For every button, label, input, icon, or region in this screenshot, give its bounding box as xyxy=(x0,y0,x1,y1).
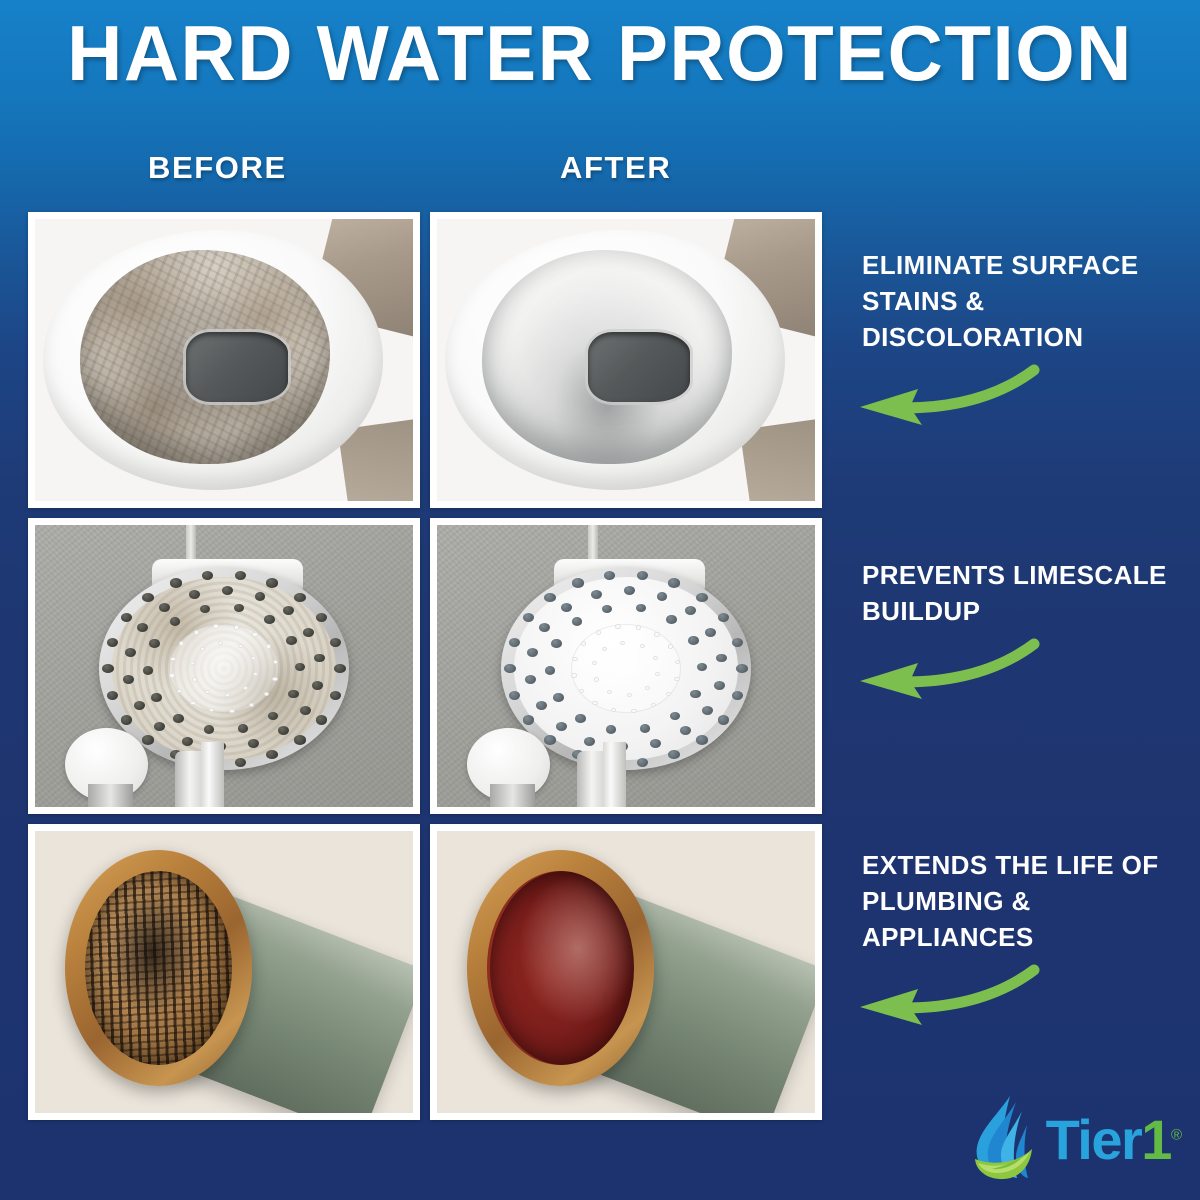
shower-hose xyxy=(603,742,626,807)
pipe-interior-clean xyxy=(487,871,633,1064)
shower-knob-stem xyxy=(88,784,133,807)
toilet-bowl-clean-image xyxy=(437,219,815,501)
shower-nozzle xyxy=(536,701,547,710)
toilet-drain-opening xyxy=(186,332,288,403)
toilet-drain-opening xyxy=(588,332,690,403)
curved-arrow-left-icon xyxy=(852,364,1182,431)
shower-nozzle xyxy=(636,625,641,629)
shower-nozzle xyxy=(572,578,583,587)
shower-nozzle xyxy=(159,603,170,612)
benefit-text-limescale: PREVENTS LIMESCALE BUILDUP xyxy=(862,558,1182,630)
shower-hose xyxy=(201,742,224,807)
shower-nozzle xyxy=(690,690,700,699)
shower-nozzle xyxy=(235,758,246,767)
column-label-after: AFTER xyxy=(560,150,671,186)
shower-nozzle xyxy=(572,657,577,661)
water-drop-leaf-icon xyxy=(964,1093,1040,1186)
shower-nozzle xyxy=(544,593,555,602)
shower-nozzle xyxy=(173,714,183,723)
shower-nozzle xyxy=(137,623,148,632)
shower-nozzle xyxy=(334,664,345,673)
benefit-text-plumbing: EXTENDS THE LIFE OF PLUMBING & APPLIANCE… xyxy=(862,848,1182,956)
shower-nozzle xyxy=(602,647,607,651)
shower-nozzle xyxy=(225,693,230,697)
shower-nozzle xyxy=(732,638,743,647)
shower-nozzle xyxy=(189,590,200,599)
curved-arrow-left-icon xyxy=(852,964,1182,1031)
shower-nozzle xyxy=(668,578,679,587)
shower-nozzle xyxy=(192,677,197,681)
pipe-interior-scaled xyxy=(85,871,231,1064)
shower-nozzle xyxy=(637,571,648,580)
shower-knob-stem xyxy=(490,784,535,807)
shower-nozzle xyxy=(229,709,234,713)
shower-nozzle xyxy=(234,625,239,629)
shower-nozzle xyxy=(527,648,538,657)
logo-number-one: 1 xyxy=(1141,1108,1171,1171)
shower-nozzle xyxy=(222,586,233,595)
benefit-block-stains: ELIMINATE SURFACE STAINS & DISCOLORATION xyxy=(862,248,1182,431)
shower-nozzle xyxy=(572,617,582,626)
shower-nozzle xyxy=(624,586,635,595)
shower-nozzle xyxy=(553,693,563,702)
shower-nozzle xyxy=(705,628,716,637)
shower-nozzle xyxy=(255,592,266,601)
shower-nozzle xyxy=(294,735,305,744)
shower-nozzle xyxy=(732,691,743,700)
shower-nozzle xyxy=(264,615,274,624)
shower-nozzle xyxy=(668,750,679,759)
shower-nozzle xyxy=(551,639,561,648)
shower-nozzle xyxy=(134,701,145,710)
tier1-logo[interactable]: Tier1® xyxy=(964,1093,1182,1186)
shower-nozzle xyxy=(666,615,676,624)
shower-nozzle xyxy=(544,735,555,744)
shower-nozzle xyxy=(235,571,246,580)
shower-nozzle xyxy=(330,691,341,700)
shower-nozzle xyxy=(718,613,729,622)
pipe-assembly xyxy=(460,845,808,1093)
shower-nozzle xyxy=(696,593,707,602)
shower-nozzle xyxy=(591,590,602,599)
shower-nozzle xyxy=(650,739,661,748)
logo-word-tier: Tier xyxy=(1046,1108,1142,1171)
shower-nozzle xyxy=(143,666,153,675)
shower-head-limescale-image xyxy=(35,525,413,807)
shower-nozzle xyxy=(238,644,243,648)
pipe-cut-face xyxy=(65,850,253,1086)
shower-nozzle xyxy=(194,630,199,634)
shower-nozzle xyxy=(523,715,534,724)
shower-nozzle xyxy=(702,706,713,715)
shower-nozzle xyxy=(615,624,620,628)
shower-nozzle xyxy=(142,593,153,602)
shower-nozzle xyxy=(314,654,325,663)
shower-nozzle xyxy=(283,606,294,615)
shower-nozzle xyxy=(606,725,616,734)
logo-wordmark: Tier1® xyxy=(1046,1112,1182,1168)
pipe-assembly xyxy=(58,845,406,1093)
benefit-block-limescale: PREVENTS LIMESCALE BUILDUP xyxy=(862,558,1182,705)
shower-nozzle xyxy=(205,690,210,694)
shower-nozzle xyxy=(637,758,648,767)
shower-head-clean-image xyxy=(437,525,815,807)
registered-trademark-icon: ® xyxy=(1171,1126,1182,1143)
shower-nozzle xyxy=(125,648,136,657)
shower-nozzle xyxy=(169,673,174,677)
shower-nozzle xyxy=(312,681,323,690)
page-title: HARD WATER PROTECTION xyxy=(12,14,1188,92)
shower-nozzle xyxy=(330,638,341,647)
comparison-row-copper-pipe xyxy=(28,824,822,1120)
shower-nozzle xyxy=(620,641,625,645)
shower-nozzle xyxy=(121,715,132,724)
shower-nozzle xyxy=(142,735,153,744)
shower-nozzle xyxy=(266,578,277,587)
comparison-row-shower-head xyxy=(28,518,822,814)
shower-nozzle xyxy=(561,603,572,612)
shower-nozzle xyxy=(688,636,698,645)
shower-nozzle xyxy=(657,592,668,601)
shower-nozzle xyxy=(607,690,612,694)
toilet-bowl-dirty-image xyxy=(35,219,413,501)
curved-arrow-left-icon xyxy=(852,638,1182,705)
shower-nozzle xyxy=(204,725,214,734)
shower-nozzle xyxy=(300,706,311,715)
shower-nozzle xyxy=(575,714,585,723)
shower-nozzle xyxy=(278,726,289,735)
shower-nozzle xyxy=(294,593,305,602)
shower-nozzle xyxy=(266,750,277,759)
shower-nozzle xyxy=(288,690,298,699)
copper-pipe-clean-image xyxy=(437,831,815,1113)
shower-nozzle xyxy=(509,691,520,700)
pipe-cut-face xyxy=(467,850,655,1086)
shower-nozzle xyxy=(685,606,696,615)
shower-head-center-ring xyxy=(571,624,681,713)
shower-nozzle xyxy=(170,657,175,661)
shower-nozzle xyxy=(714,681,725,690)
shower-nozzle xyxy=(539,623,550,632)
shower-nozzle xyxy=(736,664,747,673)
benefit-block-plumbing: EXTENDS THE LIFE OF PLUMBING & APPLIANCE… xyxy=(862,848,1182,1031)
shower-nozzle xyxy=(248,739,259,748)
photo-before-toilet-bowl xyxy=(28,212,420,508)
shower-nozzle xyxy=(213,624,218,628)
photo-after-shower-head xyxy=(430,518,822,814)
shower-nozzle xyxy=(252,632,257,636)
column-label-before: BEFORE xyxy=(148,150,287,186)
photo-before-copper-pipe xyxy=(28,824,420,1120)
shower-nozzle xyxy=(107,691,118,700)
shower-nozzle xyxy=(604,571,615,580)
shower-nozzle xyxy=(170,617,180,626)
shower-nozzle xyxy=(286,636,296,645)
shower-nozzle xyxy=(696,735,707,744)
shower-nozzle xyxy=(571,673,576,677)
shower-nozzle xyxy=(545,666,555,675)
shower-nozzle xyxy=(631,709,636,713)
shower-nozzle xyxy=(716,654,727,663)
shower-nozzle xyxy=(674,677,679,681)
shower-nozzle xyxy=(151,693,161,702)
shower-nozzle xyxy=(218,641,223,645)
benefit-text-stains: ELIMINATE SURFACE STAINS & DISCOLORATION xyxy=(862,248,1182,356)
shower-nozzle xyxy=(149,639,159,648)
shower-nozzle xyxy=(718,715,729,724)
shower-nozzle xyxy=(170,578,181,587)
shower-nozzle xyxy=(316,715,327,724)
shower-nozzle xyxy=(202,571,213,580)
photo-after-toilet-bowl xyxy=(430,212,822,508)
shower-nozzle xyxy=(316,613,327,622)
shower-nozzle xyxy=(303,628,314,637)
shower-nozzle xyxy=(596,630,601,634)
comparison-row-toilet-bowl xyxy=(28,212,822,508)
shower-nozzle xyxy=(680,726,691,735)
comparison-grid xyxy=(28,212,822,1130)
shower-nozzle xyxy=(627,693,632,697)
copper-pipe-corroded-image xyxy=(35,831,413,1113)
shower-head-center-ring xyxy=(169,624,279,713)
shower-nozzle xyxy=(640,644,645,648)
shower-nozzle xyxy=(272,677,277,681)
photo-before-shower-head xyxy=(28,518,420,814)
shower-nozzle xyxy=(200,647,205,651)
shower-nozzle xyxy=(654,632,659,636)
shower-nozzle xyxy=(594,677,599,681)
photo-after-copper-pipe xyxy=(430,824,822,1120)
